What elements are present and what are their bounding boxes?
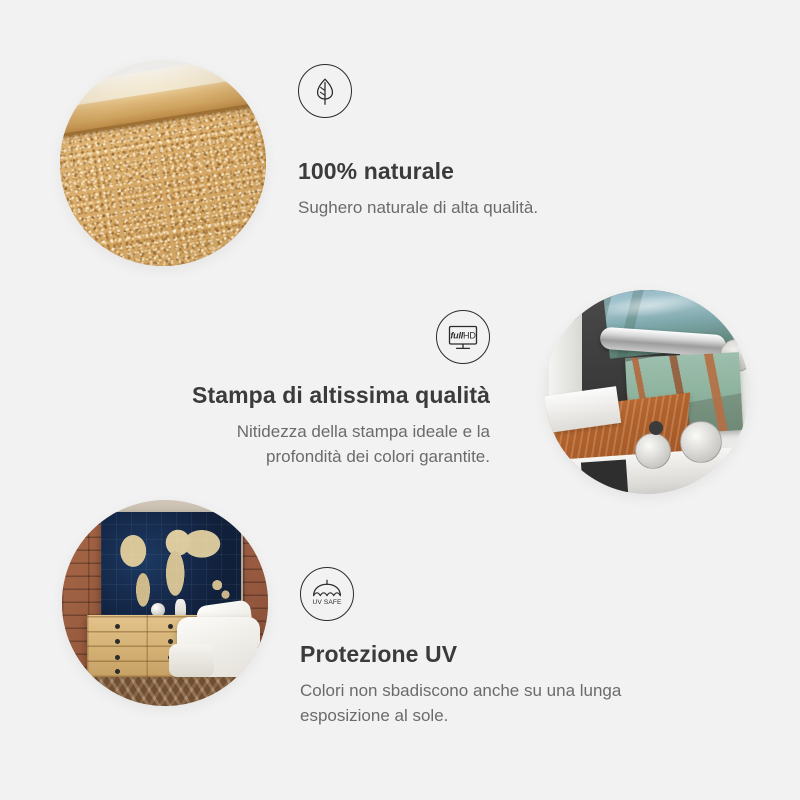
feature-print-subtitle-line2: profondità dei colori garantite. xyxy=(148,444,490,469)
cork-photo-vignette xyxy=(60,60,266,266)
interior-world-map-wall-art-photo xyxy=(62,500,268,706)
svg-text:fullHD: fullHD xyxy=(450,330,476,340)
feature-uv-subtitle: Colori non sbadiscono anche su una lunga… xyxy=(300,678,680,728)
leaf-icon xyxy=(298,64,352,118)
feature-print-title: Stampa di altissima qualità xyxy=(148,382,490,409)
feature-print-subtitle-line1: Nitidezza della stampa ideale e la xyxy=(148,419,490,444)
cork-texture-photo xyxy=(60,60,266,266)
feature-print-subtitle: Nitidezza della stampa ideale e la profo… xyxy=(148,419,490,469)
feature-natural-title: 100% naturale xyxy=(298,158,598,185)
printer-photo-knob xyxy=(649,421,663,435)
feature-natural: 100% naturale Sughero naturale di alta q… xyxy=(298,64,598,220)
feature-natural-subtitle: Sughero naturale di alta qualità. xyxy=(298,196,598,220)
large-format-printer-photo xyxy=(545,290,749,494)
feature-print: fullHD Stampa di altissima qualità Nitid… xyxy=(148,310,490,469)
fullhd-icon-label-full: full xyxy=(450,330,463,340)
feature-uv-subtitle-line2: esposizione al sole. xyxy=(300,703,680,728)
interior-photo-armchair-arm xyxy=(169,644,214,677)
uv-icon-label: UV SAFE xyxy=(313,599,342,606)
feature-uv-title: Protezione UV xyxy=(300,641,680,668)
feature-uv: UV SAFE Protezione UV Colori non sbadisc… xyxy=(300,567,680,728)
fullhd-monitor-icon: fullHD xyxy=(436,310,490,364)
feature-panel: 100% naturale Sughero naturale di alta q… xyxy=(0,0,800,800)
fullhd-icon-label-hd: HD xyxy=(463,330,476,340)
uv-umbrella-icon: UV SAFE xyxy=(300,567,354,621)
printer-photo-lower-shadow xyxy=(581,460,628,494)
interior-photo-herringbone-floor xyxy=(62,677,268,706)
feature-uv-subtitle-line1: Colori non sbadiscono anche su una lunga xyxy=(300,678,680,703)
